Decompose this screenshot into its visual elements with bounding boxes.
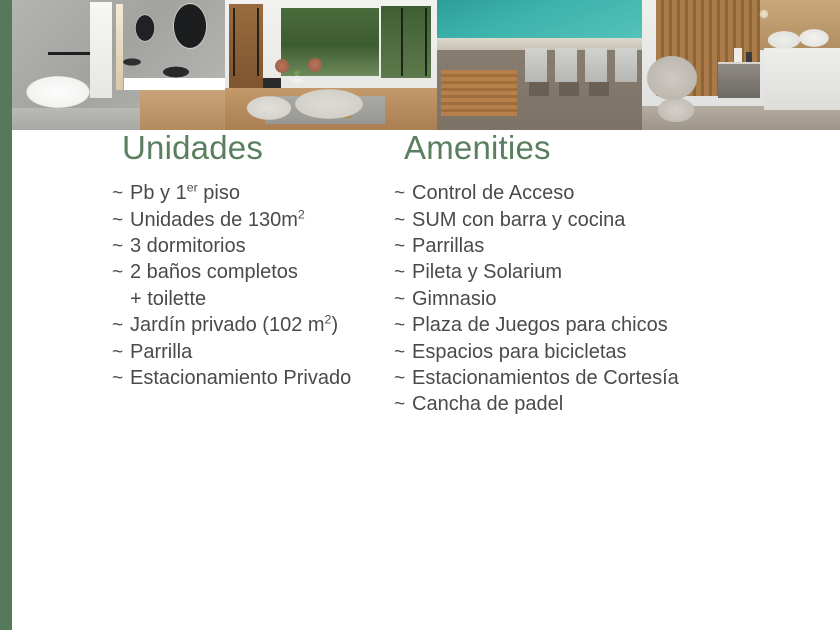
tilde-bullet-icon: ~: [112, 340, 130, 365]
list-item: ~Parrillas: [394, 233, 752, 259]
bathroom-photo: [12, 0, 225, 130]
superscript: er: [187, 181, 198, 195]
tilde-bullet-icon: ~: [394, 208, 412, 233]
units-column: Unidades ~Pb y 1er piso~Unidades de 130m…: [12, 130, 352, 418]
superscript: 2: [298, 207, 305, 221]
amenities-title: Amenities: [404, 130, 752, 166]
list-item: ~Jardín privado (102 m2): [112, 312, 352, 338]
list-item: ~Plaza de Juegos para chicos: [394, 312, 752, 338]
tilde-bullet-icon: ~: [394, 287, 412, 312]
list-item-label: 2 baños completos: [130, 259, 298, 285]
list-item: ~Unidades de 130m2: [112, 207, 352, 233]
tilde-bullet-icon: ~: [112, 208, 130, 233]
living-room-photo: [225, 0, 437, 130]
list-item: ~2 baños completos: [112, 259, 352, 285]
list-item: ~3 dormitorios: [112, 233, 352, 259]
tilde-bullet-icon: ~: [394, 392, 412, 417]
list-item-label: Control de Acceso: [412, 180, 574, 206]
list-item-label: Plaza de Juegos para chicos: [412, 312, 668, 338]
list-item: ~+ toilette: [112, 286, 352, 312]
list-item-label: Jardín privado (102 m2): [130, 312, 338, 338]
list-item-label: Estacionamientos de Cortesía: [412, 365, 679, 391]
content-area: Unidades ~Pb y 1er piso~Unidades de 130m…: [12, 130, 840, 630]
list-item-label: Parrilla: [130, 339, 192, 365]
list-item: ~Estacionamiento Privado: [112, 365, 352, 391]
tilde-bullet-icon: ~: [394, 181, 412, 206]
list-item-label: Cancha de padel: [412, 391, 563, 417]
list-item-label: Estacionamiento Privado: [130, 365, 351, 391]
superscript: 2: [325, 313, 332, 327]
list-item-label: SUM con barra y cocina: [412, 207, 625, 233]
photo-strip: [12, 0, 840, 130]
tilde-bullet-icon: ~: [112, 260, 130, 285]
list-item: ~Estacionamientos de Cortesía: [394, 365, 752, 391]
bedroom-photo: [642, 0, 840, 130]
tilde-bullet-icon: ~: [112, 366, 130, 391]
amenities-column: Amenities ~Control de Acceso~SUM con bar…: [352, 130, 752, 418]
list-item-label: Unidades de 130m2: [130, 207, 305, 233]
units-title: Unidades: [122, 130, 352, 166]
list-item: ~SUM con barra y cocina: [394, 207, 752, 233]
list-item: ~Pileta y Solarium: [394, 259, 752, 285]
slide: Unidades ~Pb y 1er piso~Unidades de 130m…: [0, 0, 840, 630]
tilde-bullet-icon: ~: [112, 234, 130, 259]
tilde-bullet-icon: ~: [112, 181, 130, 206]
list-item: ~Control de Acceso: [394, 180, 752, 206]
list-item: ~Parrilla: [112, 339, 352, 365]
list-item: ~Gimnasio: [394, 286, 752, 312]
units-list: ~Pb y 1er piso~Unidades de 130m2~3 dormi…: [112, 180, 352, 391]
feature-columns: Unidades ~Pb y 1er piso~Unidades de 130m…: [12, 130, 840, 418]
list-item: ~Espacios para bicicletas: [394, 339, 752, 365]
pool-photo: [437, 0, 642, 130]
left-accent-bar: [0, 0, 12, 630]
tilde-bullet-icon: ~: [394, 340, 412, 365]
tilde-bullet-icon: ~: [394, 366, 412, 391]
tilde-bullet-icon: ~: [394, 313, 412, 338]
tilde-bullet-icon: ~: [394, 260, 412, 285]
list-item-label: 3 dormitorios: [130, 233, 246, 259]
list-item: ~Cancha de padel: [394, 391, 752, 417]
list-item-label: Pb y 1er piso: [130, 180, 240, 206]
list-item-label: Pileta y Solarium: [412, 259, 562, 285]
list-item-label: Parrillas: [412, 233, 484, 259]
list-item: ~Pb y 1er piso: [112, 180, 352, 206]
tilde-bullet-icon: ~: [394, 234, 412, 259]
list-item-label: + toilette: [130, 286, 206, 312]
tilde-bullet-icon: ~: [112, 313, 130, 338]
list-item-label: Gimnasio: [412, 286, 496, 312]
list-item-label: Espacios para bicicletas: [412, 339, 627, 365]
amenities-list: ~Control de Acceso~SUM con barra y cocin…: [394, 180, 752, 418]
